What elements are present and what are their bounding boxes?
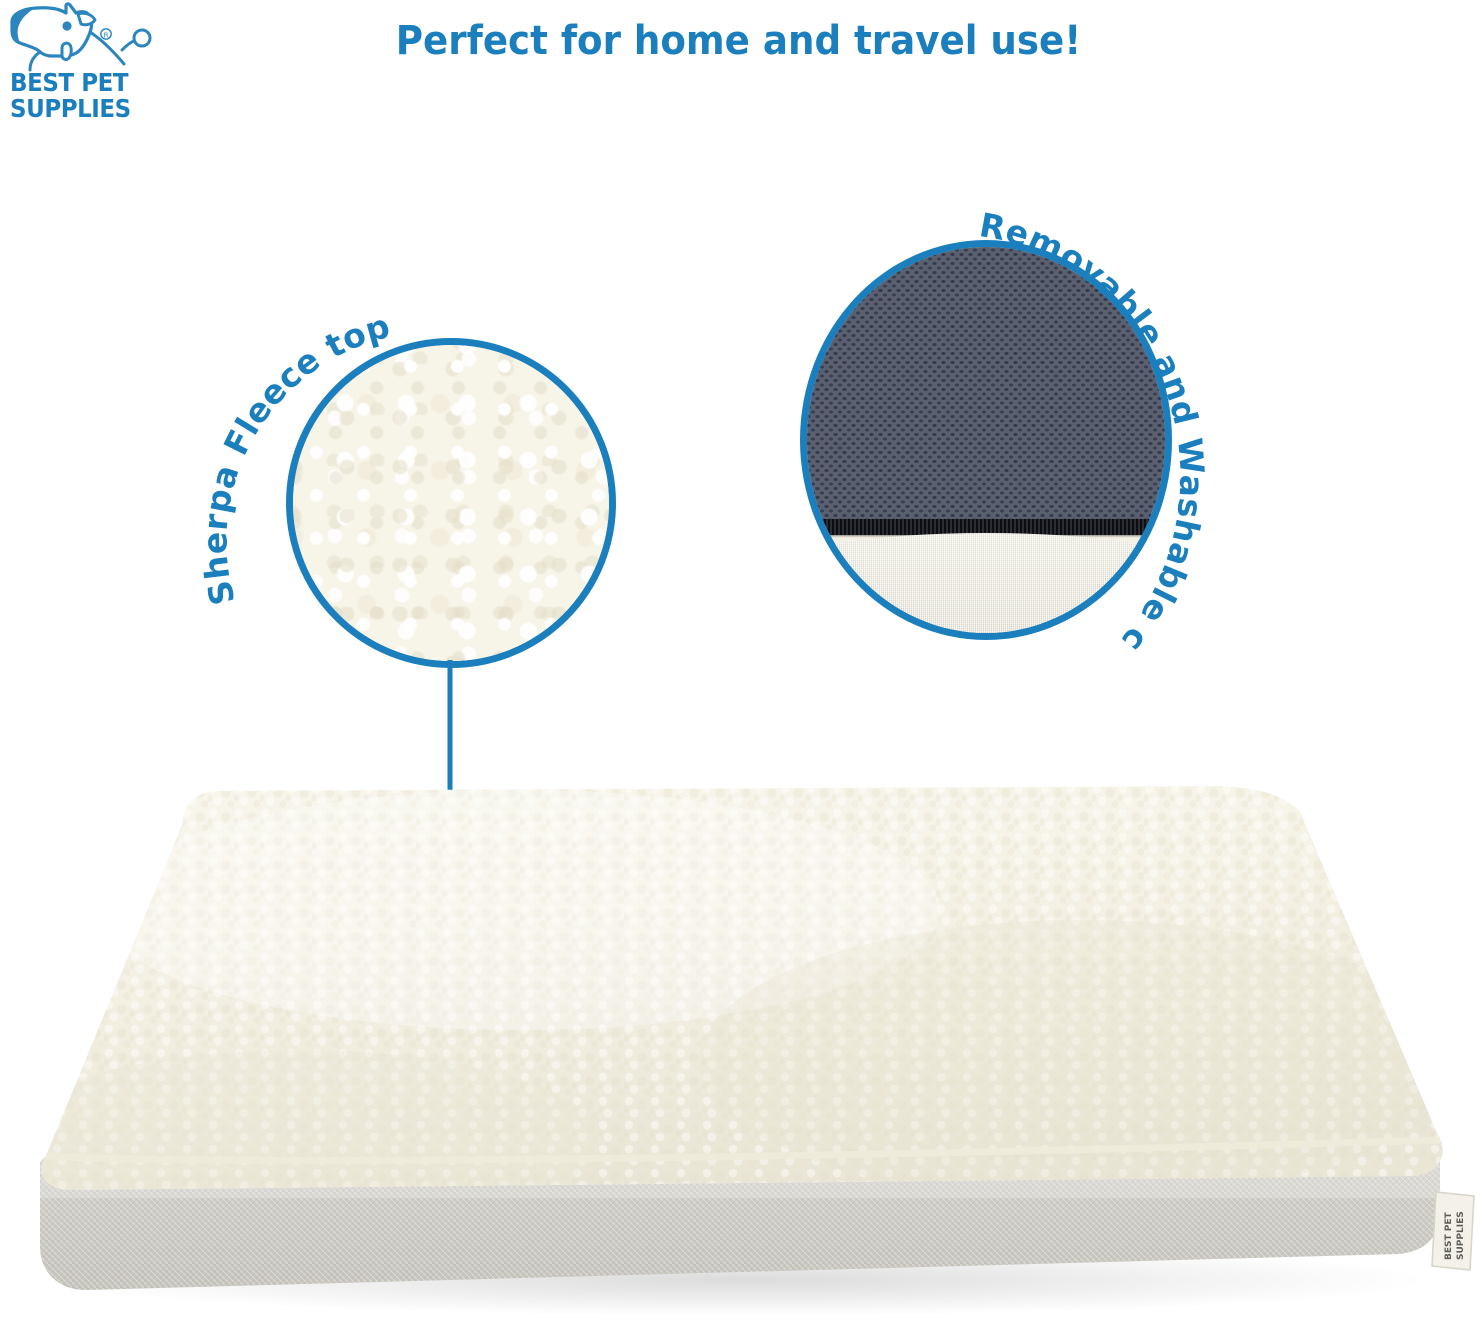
product-brand-tag: BEST PET SUPPLIES [1432,1192,1474,1270]
bed-top-surface [0,760,1477,1230]
product-image-dog-bed: BEST PET SUPPLIES [0,760,1477,1321]
page-headline: Perfect for home and travel use! [0,18,1477,64]
tag-line1: BEST PET [1444,1211,1454,1260]
logo-wordmark-line1: BEST PET [10,70,148,96]
mesh-cover-texture [800,240,1172,525]
callout-swatch-sherpa-fleece [286,338,616,668]
callout-swatch-removable-cover [800,240,1172,640]
logo-wordmark-line2: SUPPLIES [10,96,148,122]
bed-base-fabric [800,533,1172,640]
sherpa-fleece-texture [286,338,616,668]
headline-text: Perfect for home and travel use! [396,18,1081,64]
tag-line2: SUPPLIES [1456,1211,1466,1260]
